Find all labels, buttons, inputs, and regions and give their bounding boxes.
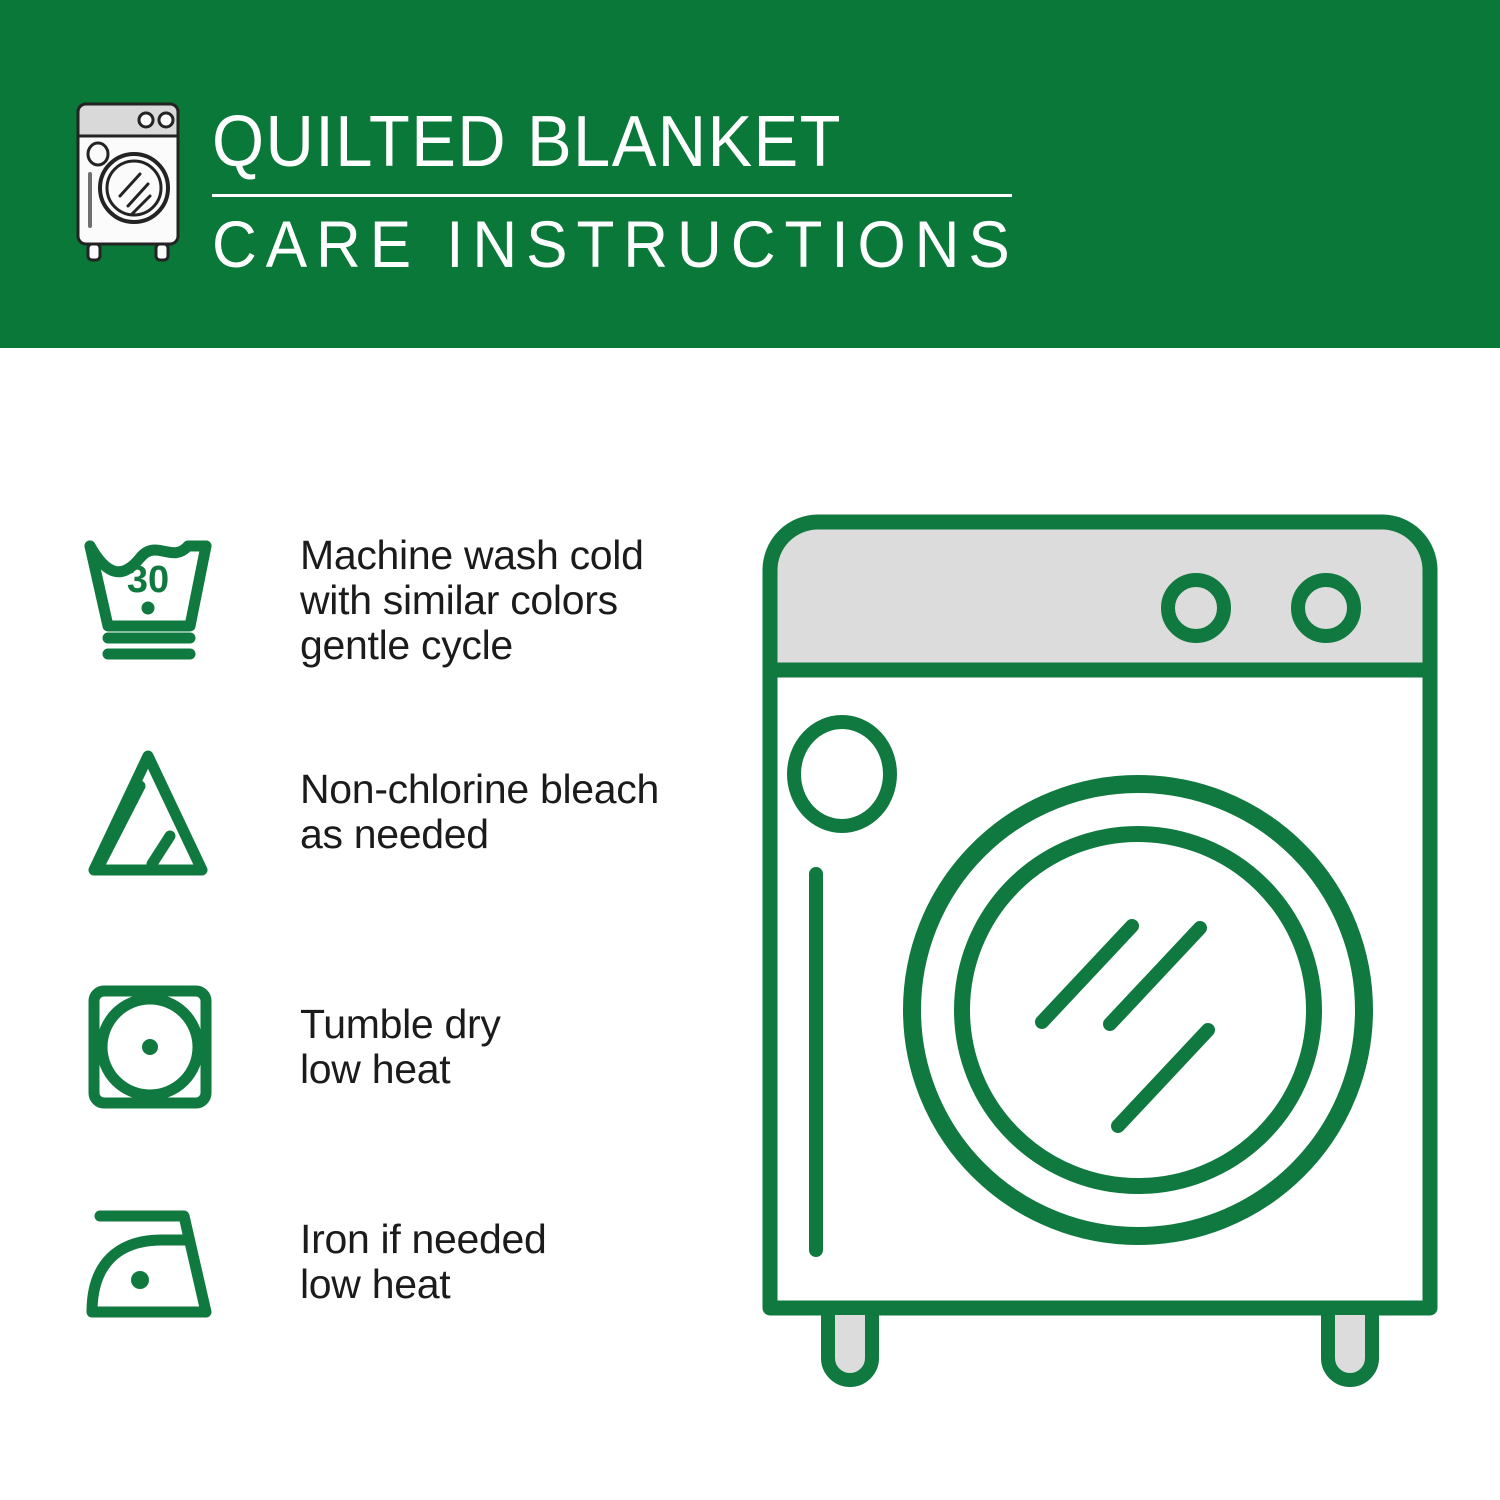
door-outer-ring [912, 784, 1364, 1236]
wash-tub-30-icon: 30 [78, 526, 238, 674]
care-text-tumble-dry: Tumble dry low heat [300, 1002, 501, 1092]
page-subtitle: CARE INSTRUCTIONS [212, 209, 1019, 279]
title-divider [212, 194, 1012, 197]
header-content: QUILTED BLANKET CARE INSTRUCTIONS [62, 96, 1070, 279]
care-row-bleach: Non-chlorine bleach as needed [78, 738, 718, 886]
care-row-machine-wash: 30 Machine wash cold with similar colors… [78, 526, 718, 674]
washing-machine-illustration [740, 490, 1460, 1430]
header-banner: QUILTED BLANKET CARE INSTRUCTIONS [0, 0, 1500, 348]
care-instruction-list: 30 Machine wash cold with similar colors… [0, 348, 740, 1500]
care-text-iron: Iron if needed low heat [300, 1217, 547, 1307]
wash-temperature-label: 30 [127, 559, 169, 601]
header-title-block: QUILTED BLANKET CARE INSTRUCTIONS [212, 96, 1070, 279]
leg-right [1328, 1308, 1372, 1380]
care-row-tumble-dry: Tumble dry low heat [78, 973, 718, 1121]
detergent-dispenser [794, 722, 890, 826]
door-inner-ring [962, 834, 1314, 1186]
door-streaks [1042, 926, 1208, 1126]
care-text-bleach: Non-chlorine bleach as needed [300, 767, 659, 857]
page-title: QUILTED BLANKET [212, 104, 1010, 180]
iron-icon [78, 1188, 238, 1336]
leg-left [828, 1308, 872, 1380]
care-row-iron: Iron if needed low heat [78, 1188, 718, 1336]
care-text-machine-wash: Machine wash cold with similar colors ge… [300, 533, 644, 668]
tumble-dry-icon [78, 973, 238, 1121]
control-panel [770, 522, 1430, 670]
bleach-triangle-icon [78, 738, 238, 886]
washing-machine-icon [62, 96, 194, 264]
